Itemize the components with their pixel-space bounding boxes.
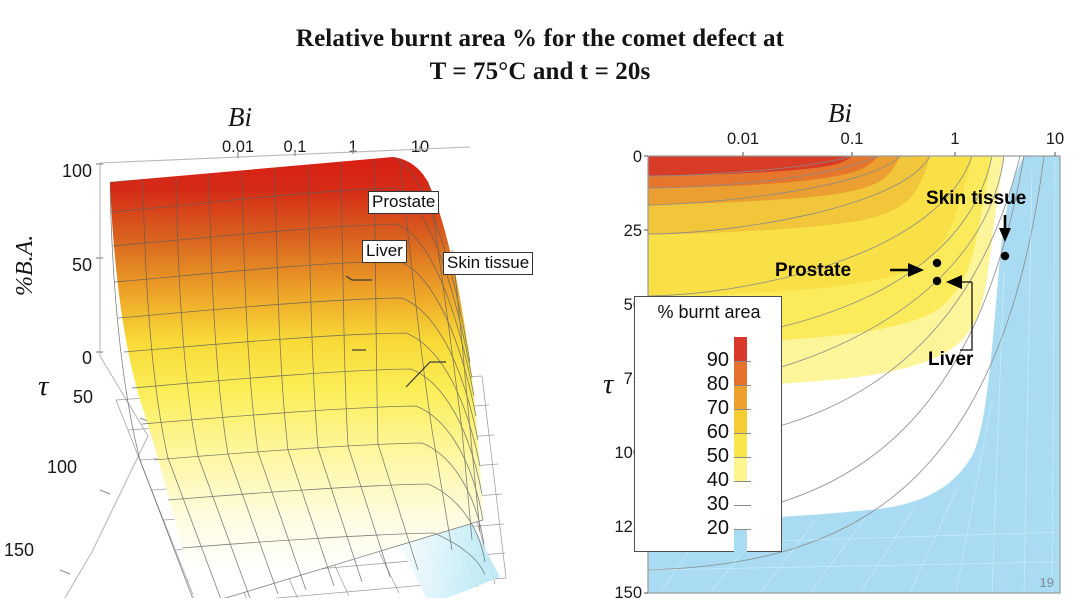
marker-skin-tissue bbox=[1001, 252, 1009, 260]
callout-prostate-left: Prostate bbox=[368, 191, 439, 214]
legend-tick-60: 60 bbox=[707, 422, 729, 442]
surface-plot-panel: Bi %B.A. τ 0.01 0.1 1 10 100 50 0 50 100… bbox=[0, 100, 600, 598]
label-liver-right: Liver bbox=[928, 349, 973, 371]
title-line-1: Relative burnt area % for the comet defe… bbox=[296, 25, 784, 52]
legend-colorbar-cold bbox=[734, 529, 747, 555]
legend-tick-90: 90 bbox=[707, 350, 729, 370]
surface-3d-canvas bbox=[0, 100, 600, 598]
callout-liver-left: Liver bbox=[362, 240, 407, 263]
legend-tick-70: 70 bbox=[707, 398, 729, 418]
page-number: 19 bbox=[1040, 575, 1054, 590]
marker-prostate-1 bbox=[933, 259, 941, 267]
legend-tick-50: 50 bbox=[707, 446, 729, 466]
figure-title: Relative burnt area % for the comet defe… bbox=[0, 22, 1080, 88]
callout-skin-tissue-left: Skin tissue bbox=[443, 252, 533, 275]
contour-plot-panel: Bi τ 0.01 0.1 1 10 0 25 50 75 100 125 15… bbox=[600, 100, 1080, 598]
label-prostate-right: Prostate bbox=[775, 260, 851, 282]
title-line-2: T = 75°C and t = 20s bbox=[0, 55, 1080, 88]
marker-prostate-2 bbox=[933, 277, 941, 285]
legend-tick-40: 40 bbox=[707, 470, 729, 490]
legend-title: % burnt area bbox=[635, 302, 783, 323]
label-skin-tissue-right: Skin tissue bbox=[926, 188, 1026, 210]
figure-root: Relative burnt area % for the comet defe… bbox=[0, 0, 1080, 598]
legend-tick-80: 80 bbox=[707, 374, 729, 394]
legend-tick-30: 30 bbox=[707, 494, 729, 514]
surface-sheet bbox=[110, 157, 483, 598]
legend-tick-20: 20 bbox=[707, 518, 729, 538]
legend-burnt-area: % burnt area 90 80 70 60 bbox=[634, 296, 782, 552]
